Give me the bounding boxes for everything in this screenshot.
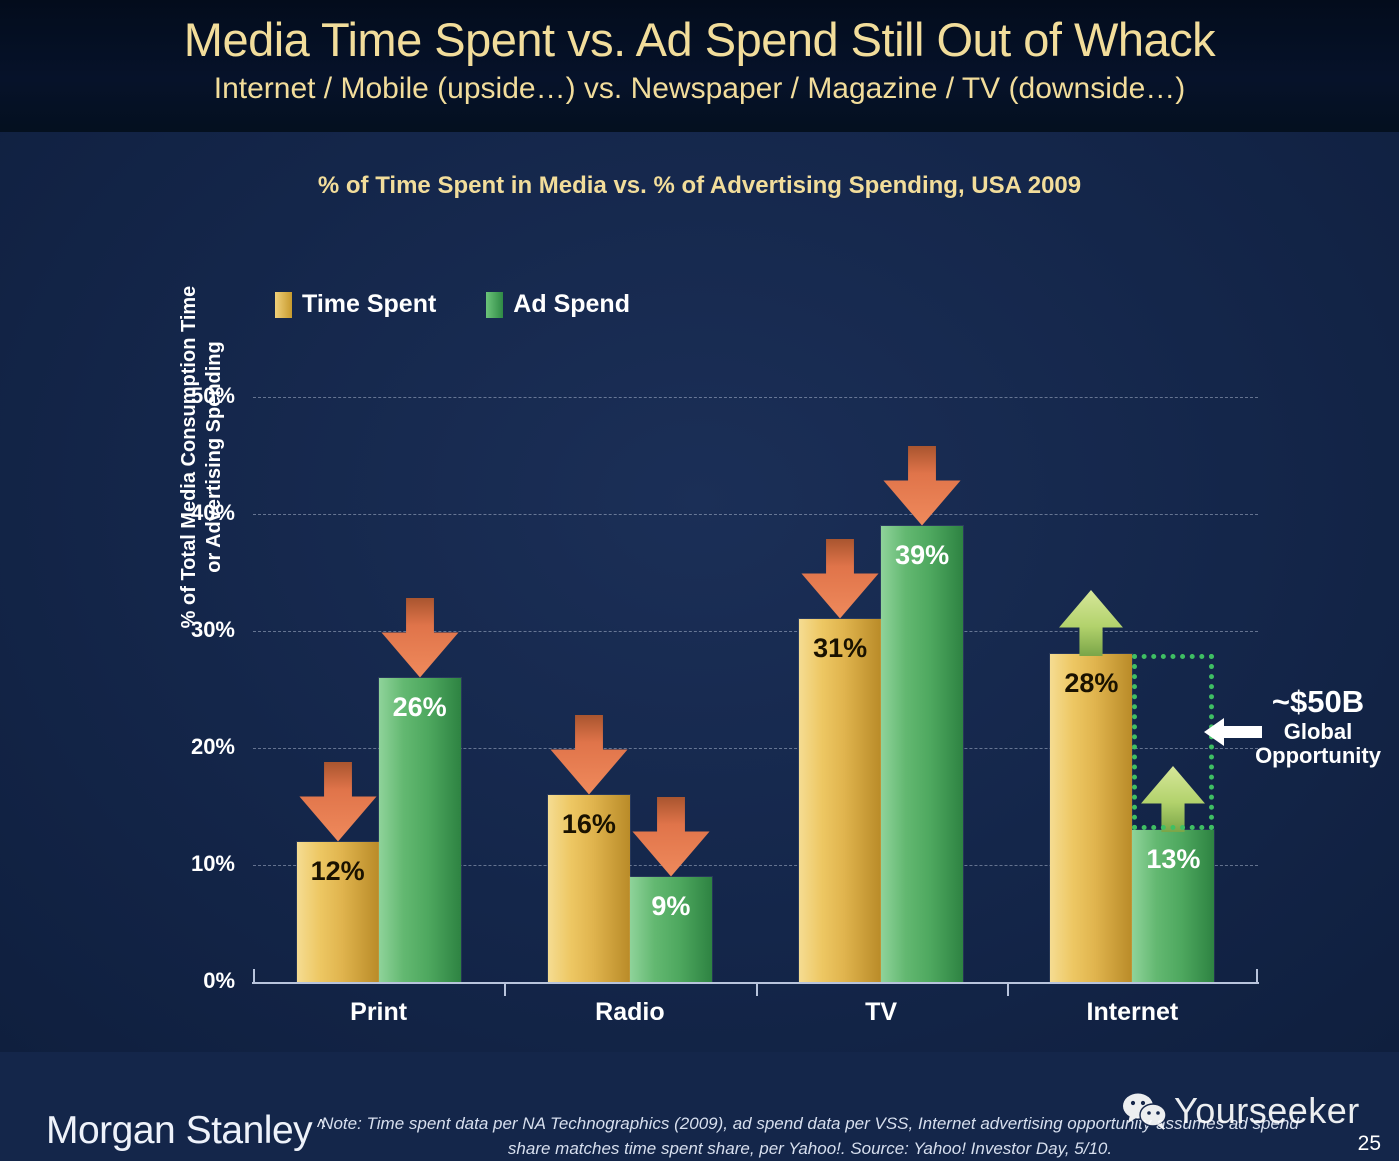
down-arrow-icon	[630, 797, 712, 879]
morgan-stanley-wordmark: Morgan Stanley	[46, 1109, 312, 1152]
bar-value-label: 39%	[881, 540, 963, 571]
header-band: Media Time Spent vs. Ad Spend Still Out …	[0, 0, 1399, 132]
bar-print-ad-spend	[379, 678, 461, 982]
y-axis-tick-label: 0%	[145, 968, 235, 994]
watermark-text: Yourseeker	[1174, 1090, 1360, 1132]
page-number: 25	[1358, 1132, 1381, 1156]
slide-body: % of Time Spent in Media vs. % of Advert…	[0, 132, 1399, 1052]
bar-value-label: 31%	[799, 633, 881, 664]
opportunity-amount: ~$50B	[1238, 685, 1398, 720]
category-label-internet: Internet	[1012, 998, 1252, 1027]
x-axis-tick	[1007, 982, 1009, 996]
bar-value-label: 28%	[1050, 668, 1132, 699]
down-arrow-icon	[881, 446, 963, 528]
y-axis-tick-label: 20%	[145, 734, 235, 760]
bar-tv-time-spent	[799, 619, 881, 982]
down-arrow-icon	[379, 598, 461, 680]
y-axis-tick-label: 40%	[145, 500, 235, 526]
y-axis-tick-label: 10%	[145, 851, 235, 877]
gold-swatch-icon	[275, 292, 292, 318]
legend-item-time-spent: Time Spent	[275, 290, 436, 319]
x-axis-tick	[504, 982, 506, 996]
x-axis-tick	[756, 982, 758, 996]
bar-internet-time-spent	[1050, 654, 1132, 982]
legend-label-time-spent: Time Spent	[302, 290, 436, 319]
down-arrow-icon	[548, 715, 630, 797]
legend-item-ad-spend: Ad Spend	[486, 290, 630, 319]
watermark: Yourseeker	[1122, 1090, 1360, 1132]
gridline	[253, 514, 1258, 515]
bar-tv-ad-spend	[881, 526, 963, 982]
bar-value-label: 12%	[297, 856, 379, 887]
y-axis-title: % of Total Media Consumption Time or Adv…	[177, 247, 227, 667]
x-axis-end-cap	[1256, 969, 1258, 984]
opportunity-line2: Opportunity	[1238, 744, 1398, 769]
opportunity-line1: Global	[1238, 720, 1398, 745]
y-axis-title-line2: or Advertising Spending	[203, 341, 225, 573]
green-swatch-icon	[486, 292, 503, 318]
category-label-tv: TV	[761, 998, 1001, 1027]
opportunity-box	[1132, 654, 1214, 830]
morgan-stanley-logo: Morgan Stanley˄	[46, 1109, 326, 1153]
chart-title: % of Time Spent in Media vs. % of Advert…	[0, 172, 1399, 200]
bar-value-label: 13%	[1132, 844, 1214, 875]
x-axis-end-cap	[253, 969, 255, 984]
down-arrow-icon	[799, 539, 881, 621]
slide-title: Media Time Spent vs. Ad Spend Still Out …	[0, 12, 1399, 67]
bar-value-label: 16%	[548, 809, 630, 840]
legend-label-ad-spend: Ad Spend	[513, 290, 630, 319]
bar-value-label: 26%	[379, 692, 461, 723]
up-arrow-icon	[1051, 588, 1131, 656]
gridline	[253, 397, 1258, 398]
down-arrow-icon	[297, 762, 379, 844]
footnote-line1: Note: Time spent data per NA Technograph…	[321, 1114, 1248, 1133]
wechat-icon	[1122, 1091, 1168, 1131]
y-axis-tick-label: 30%	[145, 617, 235, 643]
slide-subtitle: Internet / Mobile (upside…) vs. Newspape…	[0, 72, 1399, 106]
bar-value-label: 9%	[630, 891, 712, 922]
category-label-radio: Radio	[510, 998, 750, 1027]
chart-legend: Time Spent Ad Spend	[275, 290, 630, 319]
y-axis-title-line1: % of Total Media Consumption Time	[178, 286, 200, 629]
opportunity-callout: ~$50B Global Opportunity	[1238, 685, 1398, 769]
category-label-print: Print	[259, 998, 499, 1027]
y-axis-tick-label: 50%	[145, 383, 235, 409]
